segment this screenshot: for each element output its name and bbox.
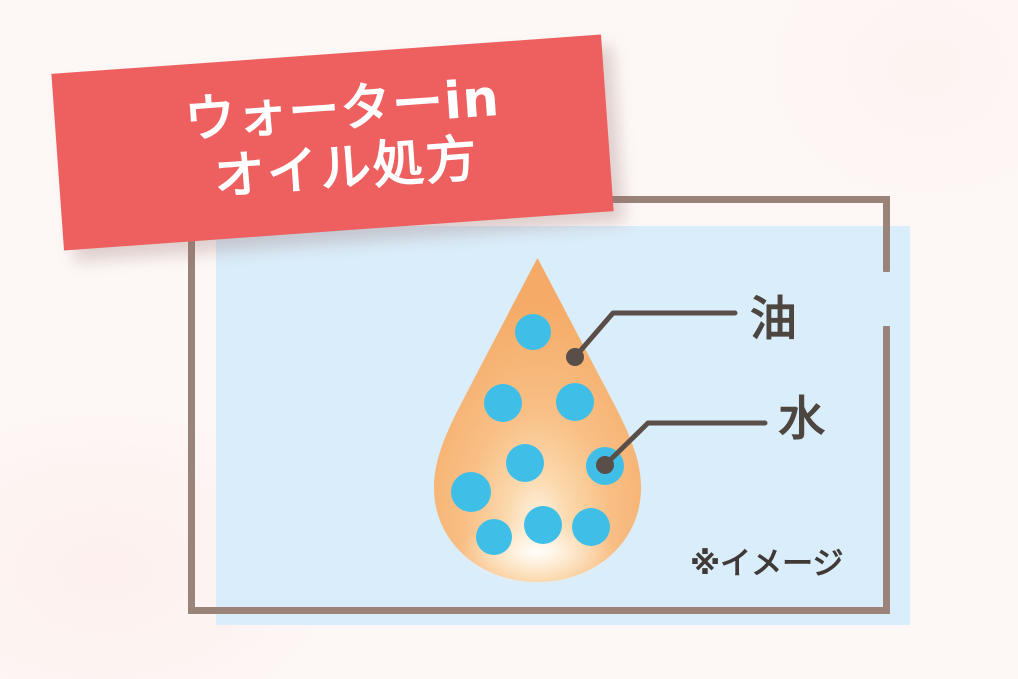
water-bead xyxy=(515,314,551,350)
infographic-canvas: 油 水 ※イメージ ウォーターin オイル処方 xyxy=(0,0,1018,679)
background-tint-right xyxy=(698,0,1018,260)
water-bead xyxy=(484,384,522,422)
frame-right-border-lower xyxy=(883,326,890,614)
oil-droplet-illustration xyxy=(417,252,659,588)
frame-left-border xyxy=(188,196,195,614)
headline-banner-text: ウォーターin オイル処方 xyxy=(159,70,507,214)
callout-label-water: 水 xyxy=(778,396,826,443)
callout-label-oil: 油 xyxy=(750,296,798,343)
water-bead xyxy=(572,508,610,546)
water-bead xyxy=(524,506,562,544)
water-bead xyxy=(556,383,594,421)
water-bead xyxy=(476,519,512,555)
water-bead xyxy=(506,444,544,482)
image-disclaimer-note: ※イメージ xyxy=(690,549,844,580)
water-bead xyxy=(586,447,624,485)
headline-banner: ウォーターin オイル処方 xyxy=(51,35,613,251)
frame-right-border-upper xyxy=(883,196,890,272)
water-bead xyxy=(451,472,491,512)
frame-bottom-border xyxy=(188,607,890,614)
